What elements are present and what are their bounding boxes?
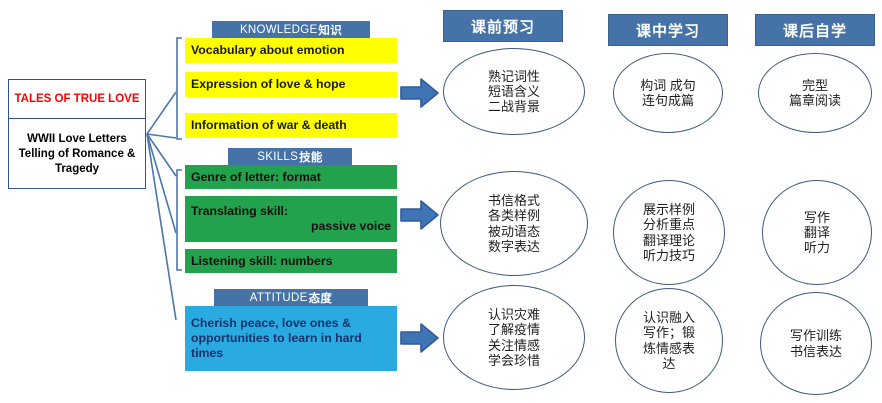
skills-item-1-label: Genre of letter: format bbox=[191, 170, 321, 185]
attitude-item-1[interactable]: Cherish peace, love ones & opportunities… bbox=[185, 306, 397, 371]
column-header-post-class[interactable]: 课后自学 bbox=[755, 14, 875, 46]
cell-post-class-skills[interactable]: 写作 翻译 听力 bbox=[762, 180, 872, 285]
diagram-canvas: TALES OF TRUE LOVE WWII Love Letters Tel… bbox=[0, 0, 882, 403]
cell-in-class-attitude[interactable]: 认识融入 写作；锻 炼情感表 达 bbox=[615, 288, 723, 393]
source-box: TALES OF TRUE LOVE WWII Love Letters Tel… bbox=[8, 79, 146, 189]
source-subtitle: WWII Love Letters Telling of Romance & T… bbox=[9, 119, 145, 190]
cell-pre-class-skills-text: 书信格式 各类样例 被动语态 数字表达 bbox=[480, 193, 548, 254]
cell-in-class-knowledge[interactable]: 构词 成句 连句成篇 bbox=[613, 53, 723, 133]
banner-knowledge: KNOWLEDGE 知识 bbox=[212, 21, 370, 38]
banner-skills-cn: 技能 bbox=[299, 149, 323, 165]
column-header-pre-class-label: 课前预习 bbox=[471, 16, 535, 37]
flow-arrow-attitude bbox=[400, 322, 440, 354]
skills-item-2-sublabel: passive voice bbox=[191, 219, 391, 234]
cell-pre-class-knowledge-text: 熟记词性 短语含义 二战背景 bbox=[480, 69, 548, 115]
cell-pre-class-knowledge[interactable]: 熟记词性 短语含义 二战背景 bbox=[443, 48, 585, 135]
knowledge-item-2-label: Expression of love & hope bbox=[191, 77, 345, 92]
cell-post-class-attitude-text: 写作训练 书信表达 bbox=[782, 328, 850, 359]
column-header-in-class[interactable]: 课中学习 bbox=[608, 14, 728, 46]
column-header-in-class-label: 课中学习 bbox=[636, 20, 700, 41]
knowledge-item-3-label: Information of war & death bbox=[191, 118, 347, 133]
cell-post-class-knowledge-text: 完型 篇章阅读 bbox=[781, 78, 849, 109]
cell-in-class-skills[interactable]: 展示样例 分析重点 翻译理论 听力技巧 bbox=[613, 180, 725, 285]
cell-pre-class-skills[interactable]: 书信格式 各类样例 被动语态 数字表达 bbox=[440, 171, 588, 276]
banner-attitude-cn: 态度 bbox=[309, 290, 333, 306]
connector-lines bbox=[0, 0, 882, 403]
column-header-pre-class[interactable]: 课前预习 bbox=[443, 10, 563, 42]
flow-arrow-knowledge bbox=[400, 77, 440, 109]
knowledge-item-2[interactable]: Expression of love & hope bbox=[185, 72, 397, 97]
attitude-item-1-label: Cherish peace, love ones & opportunities… bbox=[191, 316, 391, 360]
flow-arrow-skills bbox=[400, 199, 440, 231]
banner-knowledge-en: KNOWLEDGE bbox=[240, 24, 317, 36]
banner-knowledge-cn: 知识 bbox=[318, 22, 342, 38]
skills-item-2[interactable]: Translating skill: passive voice bbox=[185, 196, 397, 242]
skills-item-3[interactable]: Listening skill: numbers bbox=[185, 249, 397, 273]
banner-attitude-en: ATTITUDE bbox=[250, 292, 308, 304]
cell-post-class-attitude[interactable]: 写作训练 书信表达 bbox=[760, 292, 872, 395]
banner-attitude: ATTITUDE 态度 bbox=[214, 289, 368, 306]
cell-post-class-skills-text: 写作 翻译 听力 bbox=[796, 210, 838, 256]
knowledge-item-1-label: Vocabulary about emotion bbox=[191, 43, 345, 58]
source-title: TALES OF TRUE LOVE bbox=[9, 80, 145, 119]
cell-pre-class-attitude-text: 认识灾难 了解疫情 关注情感 学会珍惜 bbox=[480, 307, 548, 368]
knowledge-item-3[interactable]: Information of war & death bbox=[185, 113, 397, 138]
banner-skills-en: SKILLS bbox=[257, 151, 298, 163]
knowledge-item-1[interactable]: Vocabulary about emotion bbox=[185, 38, 397, 63]
skills-item-2-label: Translating skill: bbox=[191, 204, 288, 218]
column-header-post-class-label: 课后自学 bbox=[783, 20, 847, 41]
cell-pre-class-attitude[interactable]: 认识灾难 了解疫情 关注情感 学会珍惜 bbox=[443, 285, 585, 390]
skills-item-3-label: Listening skill: numbers bbox=[191, 254, 332, 269]
cell-in-class-skills-text: 展示样例 分析重点 翻译理论 听力技巧 bbox=[635, 202, 703, 263]
cell-in-class-attitude-text: 认识融入 写作；锻 炼情感表 达 bbox=[635, 310, 703, 371]
banner-skills: SKILLS 技能 bbox=[228, 148, 352, 165]
cell-post-class-knowledge[interactable]: 完型 篇章阅读 bbox=[758, 53, 872, 133]
cell-in-class-knowledge-text: 构词 成句 连句成篇 bbox=[632, 78, 704, 109]
skills-item-1[interactable]: Genre of letter: format bbox=[185, 165, 397, 189]
